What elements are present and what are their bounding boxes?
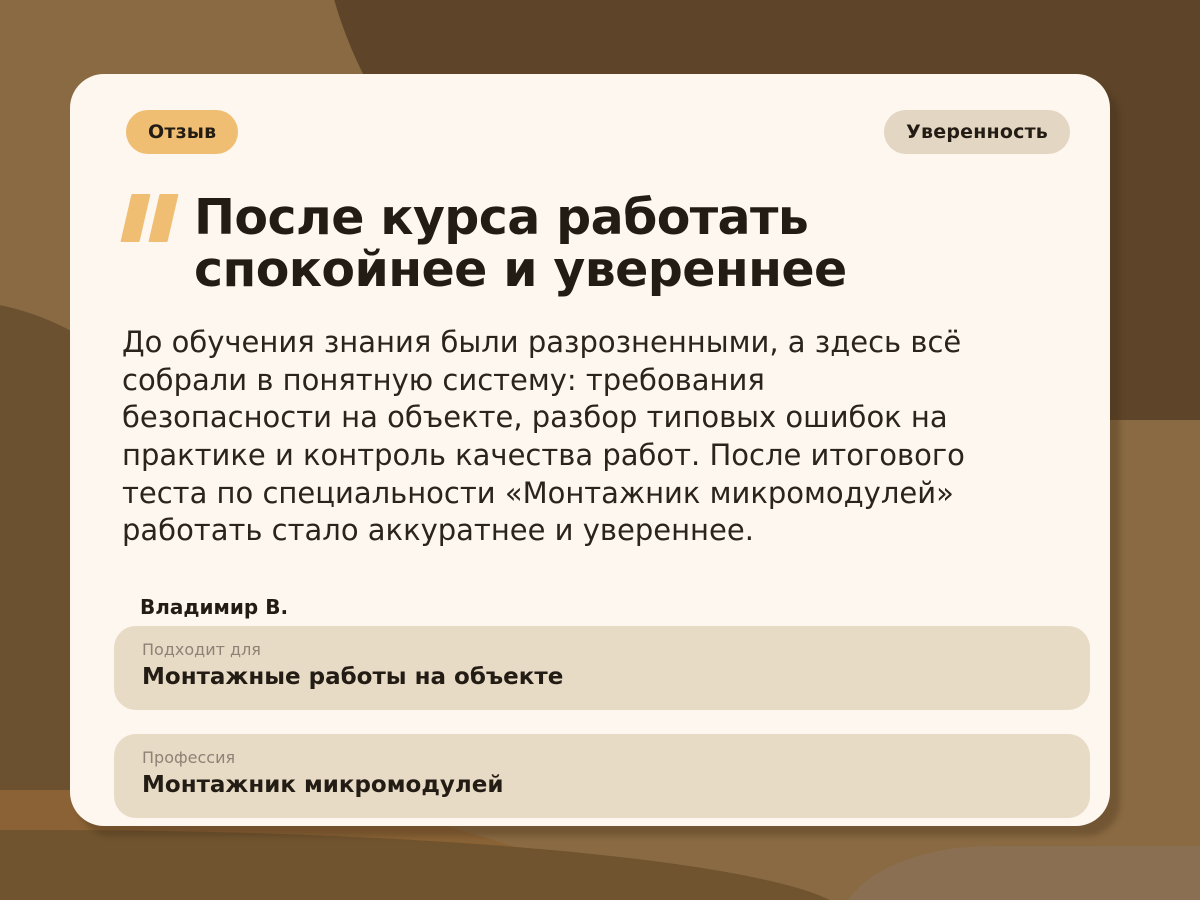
page-title: После курса работать спокойнее и уверенн… (122, 192, 1070, 297)
testimonial-slide: Отзыв Уверенность После курса работать с… (0, 0, 1200, 900)
info-card-value: Монтажник микромодулей (142, 772, 1090, 800)
testimonial-card: Отзыв Уверенность После курса работать с… (70, 74, 1110, 826)
badge-row: Отзыв Уверенность (70, 110, 1110, 154)
info-card-label: Профессия (142, 748, 1090, 767)
info-card-label: Подходит для (142, 640, 1090, 659)
author-name: Владимир В. (140, 595, 288, 619)
headline-block: После курса работать спокойнее и уверенн… (122, 192, 1070, 297)
topic-badge: Уверенность (884, 110, 1070, 154)
info-card-profession: Профессия Монтажник микромодулей (114, 734, 1090, 818)
info-card-suitable-for: Подходит для Монтажные работы на объекте (114, 626, 1090, 710)
category-badge: Отзыв (126, 110, 238, 154)
testimonial-body: До обучения знания были разрозненными, а… (122, 324, 982, 550)
quote-mark-icon (122, 194, 184, 244)
info-card-value: Монтажные работы на объекте (142, 664, 1090, 692)
